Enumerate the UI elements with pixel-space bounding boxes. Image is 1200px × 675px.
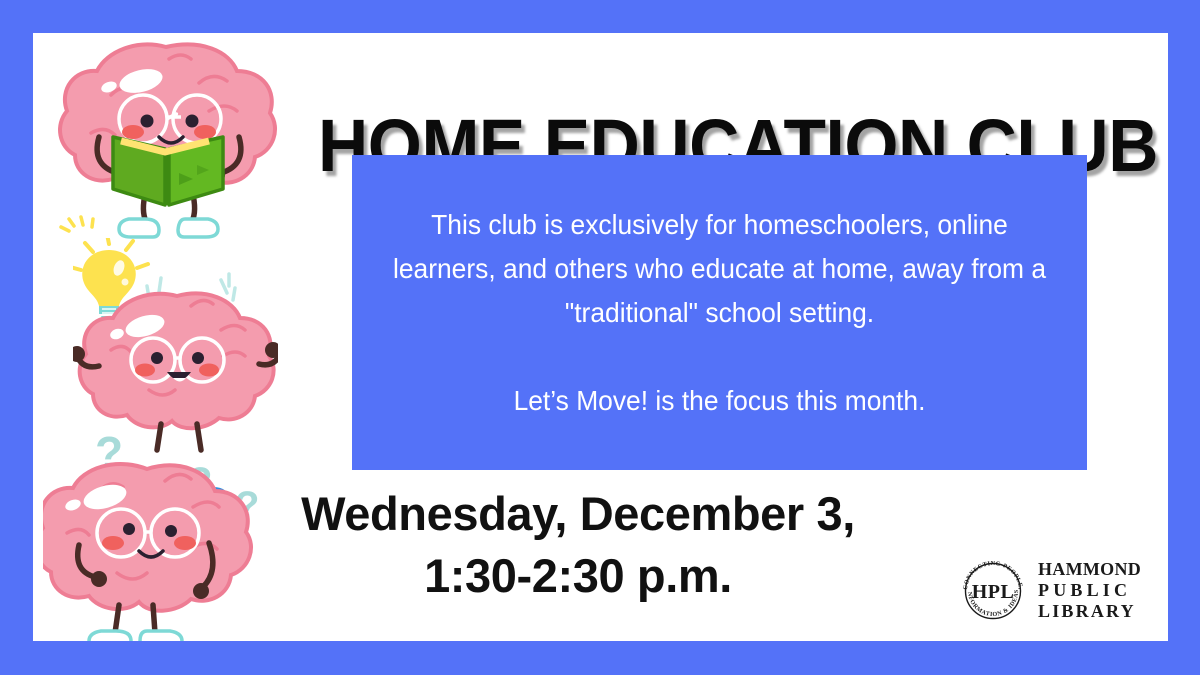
brain-cheering-lightbulb-icon [73,238,278,453]
library-name-line-2: PUBLIC [1038,580,1141,601]
event-datetime: Wednesday, December 3, 1:30-2:30 p.m. [163,483,993,607]
hpl-seal-icon: CONNECTING PEOPLE, INFORMATION & IDEAS H… [958,556,1028,626]
brain-reading-book-icon [51,37,281,242]
library-name-line-3: LIBRARY [1038,601,1141,622]
description-panel: This club is exclusively for homeschoole… [352,155,1087,470]
description-text: This club is exclusively for homeschoole… [367,203,1073,423]
library-name-line-1: HAMMOND [1038,559,1141,580]
library-logo: CONNECTING PEOPLE, INFORMATION & IDEAS H… [958,548,1148,633]
library-wordmark: HAMMOND PUBLIC LIBRARY [1038,559,1141,622]
seal-abbreviation: HPL [972,581,1015,603]
poster: ? ? ? ? [0,0,1200,675]
poster-card: ? ? ? ? [33,33,1168,641]
